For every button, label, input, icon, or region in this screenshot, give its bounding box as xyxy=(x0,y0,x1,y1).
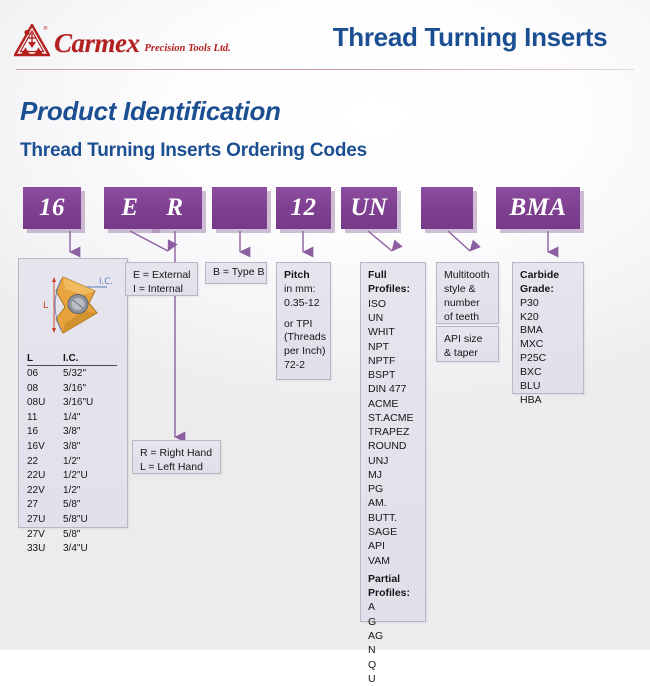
code-box-multitooth[interactable] xyxy=(421,187,473,229)
cell-l: 22 xyxy=(27,455,63,470)
cell-ic: 1/4" xyxy=(63,411,117,426)
partial-profile-item: G xyxy=(368,615,418,629)
api-line: & taper xyxy=(444,347,491,361)
column-header-ic: I.C. xyxy=(63,353,117,366)
table-row: 111/4" xyxy=(27,411,119,426)
page-title: Product Identification xyxy=(20,96,281,127)
profile-item: TRAPEZ xyxy=(368,425,418,439)
cell-ic: 3/16"U xyxy=(63,396,117,411)
profile-item: UN xyxy=(368,311,418,325)
table-body: 065/32"083/16"08U3/16"U111/4"163/8"16V3/… xyxy=(27,367,119,557)
profiles-box: Full Profiles: ISOUNWHITNPTNPTFBSPTDIN 4… xyxy=(360,262,426,622)
full-profiles-title: Full xyxy=(368,269,418,283)
pitch-tpi-line: (Threads xyxy=(284,331,323,345)
carmex-triangle-logo-icon: ® xyxy=(14,24,50,57)
pitch-title: Pitch xyxy=(284,269,323,283)
api-line: API size xyxy=(444,333,491,347)
page-root: ® Carmex Precision Tools Ltd. Thread Tur… xyxy=(0,0,650,650)
cell-ic: 5/8" xyxy=(63,528,117,543)
carbide-grade-item: BMA xyxy=(520,324,576,338)
profile-item: ROUND xyxy=(368,439,418,453)
cell-ic: 1/2" xyxy=(63,455,117,470)
code-box-type[interactable] xyxy=(212,187,267,229)
code-box-grade[interactable]: BMA xyxy=(496,187,580,229)
code-box-label: 12 xyxy=(291,194,317,222)
full-profiles-list: ISOUNWHITNPTNPTFBSPTDIN 477ACMEST.ACMETR… xyxy=(368,297,418,568)
code-box-hand[interactable]: R xyxy=(148,187,202,229)
cell-l: 27 xyxy=(27,498,63,513)
cell-l: 08 xyxy=(27,382,63,397)
partial-profile-item: U xyxy=(368,672,418,686)
cell-l: 27V xyxy=(27,528,63,543)
carbide-grade-box: Carbide Grade: P30K20BMAMXCP25CBXCBLUHBA xyxy=(512,262,584,394)
svg-text:I.C.: I.C. xyxy=(99,277,113,287)
cell-l: 08U xyxy=(27,396,63,411)
dimension-table: L I.C. 065/32"083/16"08U3/16"U111/4"163/… xyxy=(27,353,119,557)
code-box-label: 16 xyxy=(39,194,65,222)
carbide-grade-item: P25C xyxy=(520,352,576,366)
profile-item: WHIT xyxy=(368,325,418,339)
cell-l: 06 xyxy=(27,367,63,382)
carbide-grade-item: MXC xyxy=(520,338,576,352)
carbide-grade-item: K20 xyxy=(520,311,576,325)
multitooth-line: style & xyxy=(444,283,491,297)
ext-int-line: I = Internal xyxy=(133,283,190,297)
cell-ic: 3/16" xyxy=(63,382,117,397)
table-row: 08U3/16"U xyxy=(27,396,119,411)
partial-profile-item: A xyxy=(368,600,418,614)
api-box: API size & taper xyxy=(436,326,499,362)
cell-ic: 1/2"U xyxy=(63,469,117,484)
profile-item: ST.ACME xyxy=(368,411,418,425)
svg-text:L: L xyxy=(43,301,48,311)
partial-profile-item: Q xyxy=(368,658,418,672)
partial-profiles-list: AGAGNQU xyxy=(368,600,418,686)
carbide-grade-item: BLU xyxy=(520,380,576,394)
table-row: 27V5/8" xyxy=(27,528,119,543)
partial-profiles-title: Profiles: xyxy=(368,587,418,601)
carbide-grade-item: P30 xyxy=(520,297,576,311)
table-row: 163/8" xyxy=(27,425,119,440)
table-row: 083/16" xyxy=(27,382,119,397)
cell-ic: 5/8" xyxy=(63,498,117,513)
profile-item: UNJ xyxy=(368,454,418,468)
pitch-line: in mm: xyxy=(284,283,323,297)
hand-line: R = Right Hand xyxy=(140,447,213,461)
cell-ic: 5/32" xyxy=(63,367,117,382)
profile-item: API xyxy=(368,539,418,553)
right-left-hand-box: R = Right Hand L = Left Hand xyxy=(132,440,221,474)
hand-line: L = Left Hand xyxy=(140,461,213,475)
multitooth-line: of teeth xyxy=(444,311,491,325)
table-row: 22V1/2" xyxy=(27,484,119,499)
insert-dimension-panel: L I.C. L I.C. 065/32"083/16"08U3/16"U111… xyxy=(18,258,128,528)
code-box-label: UN xyxy=(350,194,387,222)
cell-ic: 3/8" xyxy=(63,425,117,440)
profile-item: SAGE xyxy=(368,525,418,539)
code-box-label: E xyxy=(121,194,138,222)
column-header-l: L xyxy=(27,353,63,366)
full-profiles-title: Profiles: xyxy=(368,283,418,297)
carmex-logo: ® Carmex Precision Tools Ltd. xyxy=(14,24,231,57)
multitooth-line: Multitooth xyxy=(444,269,491,283)
partial-profiles-title: Partial xyxy=(368,573,418,587)
code-box-pitch[interactable]: 12 xyxy=(276,187,331,229)
profile-item: DIN 477 xyxy=(368,382,418,396)
cell-ic: 3/8" xyxy=(63,440,117,455)
table-row: 065/32" xyxy=(27,367,119,382)
header-title: Thread Turning Inserts xyxy=(300,22,640,53)
profile-item: PG xyxy=(368,482,418,496)
table-row: 221/2" xyxy=(27,455,119,470)
table-row: 16V3/8" xyxy=(27,440,119,455)
insert-illustration: L I.C. xyxy=(23,263,122,347)
profile-item: ACME xyxy=(368,397,418,411)
carbide-grade-title: Carbide xyxy=(520,269,576,283)
logo-tagline: Precision Tools Ltd. xyxy=(145,44,231,55)
type-line: B = Type B xyxy=(213,266,264,280)
multitooth-line: number xyxy=(444,297,491,311)
cell-ic: 1/2" xyxy=(63,484,117,499)
code-box-label: R xyxy=(166,194,183,222)
cell-l: 16V xyxy=(27,440,63,455)
table-row: 22U1/2"U xyxy=(27,469,119,484)
pitch-box: Pitch in mm: 0.35-12 or TPI (Threads per… xyxy=(276,262,331,380)
profile-item: BSPT xyxy=(368,368,418,382)
partial-profile-item: N xyxy=(368,643,418,657)
cell-l: 11 xyxy=(27,411,63,426)
code-box-label: BMA xyxy=(509,194,566,222)
type-box: B = Type B xyxy=(205,262,267,284)
pitch-tpi-line: 72-2 xyxy=(284,359,323,373)
carbide-grade-title: Grade: xyxy=(520,283,576,297)
carbide-grade-item: BXC xyxy=(520,366,576,380)
profile-item: NPTF xyxy=(368,354,418,368)
ext-int-line: E = External xyxy=(133,269,190,283)
code-box-profile[interactable]: UN xyxy=(341,187,397,229)
pitch-tpi-line: or TPI xyxy=(284,318,323,332)
table-row: 275/8" xyxy=(27,498,119,513)
pitch-tpi-line: per Inch) xyxy=(284,345,323,359)
table-row: 27U5/8"U xyxy=(27,513,119,528)
profile-item: AM. BUTT. xyxy=(368,496,418,525)
carbide-grade-item: HBA xyxy=(520,394,576,408)
carbide-grade-list: P30K20BMAMXCP25CBXCBLUHBA xyxy=(520,297,576,408)
header-divider xyxy=(16,69,634,70)
partial-profile-item: AG xyxy=(368,629,418,643)
page-header: ® Carmex Precision Tools Ltd. Thread Tur… xyxy=(0,0,650,70)
table-row: 33U3/4"U xyxy=(27,542,119,557)
profile-item: NPT xyxy=(368,340,418,354)
logo-wordmark: Carmex xyxy=(54,30,140,57)
pitch-line: 0.35-12 xyxy=(284,297,323,311)
profile-item: VAM xyxy=(368,554,418,568)
cell-l: 22U xyxy=(27,469,63,484)
profile-item: MJ xyxy=(368,468,418,482)
table-header-row: L I.C. xyxy=(27,353,119,367)
profile-item: ISO xyxy=(368,297,418,311)
cell-l: 33U xyxy=(27,542,63,557)
multitooth-box: Multitooth style & number of teeth xyxy=(436,262,499,324)
cell-l: 22V xyxy=(27,484,63,499)
cell-ic: 3/4"U xyxy=(63,542,117,557)
cell-l: 16 xyxy=(27,425,63,440)
cell-l: 27U xyxy=(27,513,63,528)
page-subtitle: Thread Turning Inserts Ordering Codes xyxy=(20,140,367,162)
cell-ic: 5/8"U xyxy=(63,513,117,528)
svg-text:®: ® xyxy=(43,25,48,32)
external-internal-box: E = External I = Internal xyxy=(125,262,198,296)
code-box-size[interactable]: 16 xyxy=(23,187,81,229)
